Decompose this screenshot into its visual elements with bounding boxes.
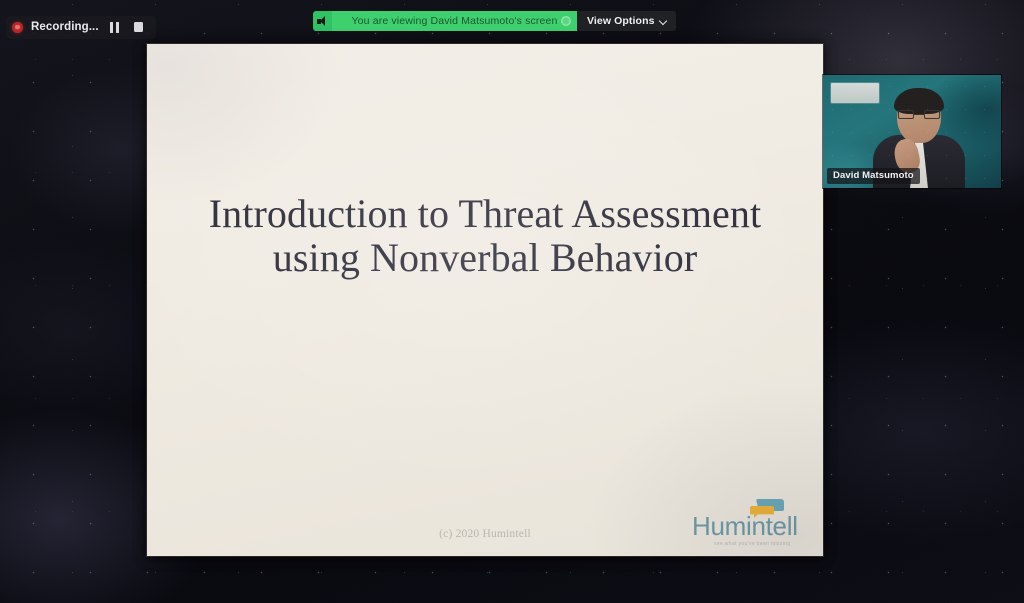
logo-tagline: see what you've been missing (714, 541, 790, 547)
stop-recording-button[interactable] (131, 19, 147, 35)
sharing-status-dot (561, 16, 571, 26)
pause-icon (110, 22, 119, 33)
zoom-top-bar: Recording... You are viewing David Matsu… (0, 0, 1024, 40)
screen-share-banner: You are viewing David Matsumoto's screen… (313, 11, 676, 31)
participant-video-thumbnail[interactable]: David Matsumoto (823, 75, 1001, 188)
participant-name-label: David Matsumoto (827, 168, 920, 185)
speaker-icon (317, 16, 328, 27)
recording-indicator-group: Recording... (6, 16, 156, 39)
shared-slide[interactable]: Introduction to Threat Assessment using … (147, 44, 823, 556)
slide-title: Introduction to Threat Assessment using … (199, 192, 771, 281)
logo-wordmark: Humintell (692, 511, 820, 542)
sharing-message: You are viewing David Matsumoto's screen (351, 15, 557, 27)
record-dot-icon (12, 22, 23, 33)
sharing-status-area: You are viewing David Matsumoto's screen (332, 11, 577, 31)
view-options-button[interactable]: View Options (577, 11, 676, 31)
view-options-label: View Options (587, 15, 655, 27)
speaker-button[interactable] (313, 11, 332, 31)
stop-icon (134, 22, 144, 32)
humintell-logo: Humintell see what you've been missing (692, 499, 820, 551)
recording-label: Recording... (31, 21, 99, 33)
chevron-down-icon (660, 18, 667, 25)
pause-recording-button[interactable] (107, 19, 123, 35)
